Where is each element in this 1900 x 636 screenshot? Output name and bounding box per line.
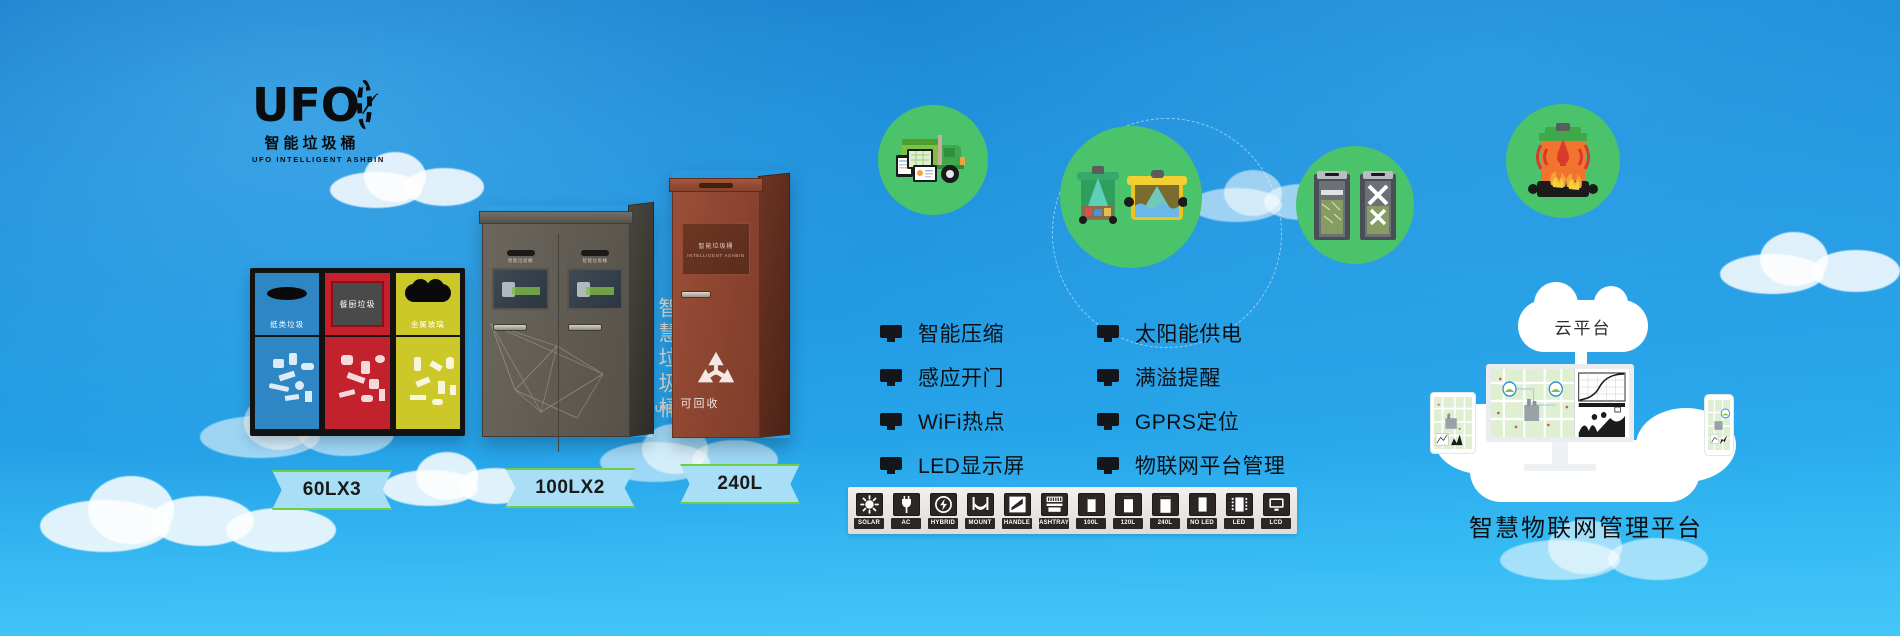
spec-label: SOLAR: [854, 518, 884, 529]
monitor-icon: [880, 457, 902, 474]
feature-label: GPRS定位: [1135, 406, 1240, 436]
feature-item: 太阳能供电: [1097, 318, 1286, 348]
spec-label: 120L: [1113, 518, 1143, 529]
monitor-icon: [1097, 325, 1119, 342]
screen-banner: [512, 287, 540, 295]
spec-label: HANDLE: [1002, 518, 1032, 529]
cloud-slot-icon: [405, 284, 451, 302]
capacity-label-100lx2: 100LX2: [505, 468, 635, 508]
screen-banner: [586, 287, 614, 295]
feature-circle-fleet-monitoring[interactable]: [878, 105, 988, 215]
plug-icon: [893, 493, 920, 516]
spec-label: AC: [891, 518, 921, 529]
no-led-icon: [1189, 493, 1216, 516]
product-smart-double-bin[interactable]: 智能垃圾桶 智能垃圾桶 智慧垃圾桶 UFO: [482, 205, 652, 437]
bin-cell-body: [396, 337, 460, 429]
tablet-device: [1430, 392, 1476, 454]
feature-list-right-column: 太阳能供电 满溢提醒 GPRS定位 物联网平台管理: [1097, 318, 1286, 480]
feature-label: WiFi热点: [918, 406, 1005, 436]
cloud-platform-badge[interactable]: 云平台: [1518, 300, 1648, 352]
bin-cell-kitchen: 餐厨垃圾: [323, 271, 391, 431]
spec-label: 100L: [1076, 518, 1106, 529]
bin-cell-top: 餐厨垃圾: [325, 273, 389, 337]
capacity-label-240l: 240L: [680, 464, 800, 504]
spec-item-hybrid[interactable]: HYBRID: [928, 493, 958, 529]
spec-item-ac[interactable]: AC: [891, 493, 921, 529]
spec-label: 240L: [1150, 518, 1180, 529]
dashboard-map-panel: [1491, 369, 1574, 437]
spec-item-240l[interactable]: 240L: [1150, 493, 1180, 529]
logo-wordmark: UFO: [252, 82, 360, 128]
bin-display-screen: [567, 268, 623, 310]
spec-item-mount[interactable]: MOUNT: [965, 493, 995, 529]
bin-display-panel: 餐厨垃圾: [331, 281, 383, 327]
bin-cell-label: 金属玻璃: [396, 319, 460, 330]
bin-fill-sensor-icon: [1075, 162, 1187, 232]
led-screen-icon: [1226, 493, 1253, 516]
bin-panel-title: 智能垃圾桶: [698, 241, 733, 250]
spec-label: ASHTRAY: [1039, 518, 1069, 529]
garbage-truck-icon: [894, 131, 972, 189]
spec-label: LED: [1224, 518, 1254, 529]
desktop-monitor-device: [1486, 364, 1634, 471]
litter-graphic: [396, 337, 460, 429]
spec-item-100l[interactable]: 100L: [1076, 493, 1106, 529]
wall-mount-icon: [967, 493, 994, 516]
monitor-base: [1524, 464, 1596, 471]
feature-circle-fire-alarm[interactable]: [1506, 104, 1620, 218]
lcd-screen-icon: [1263, 493, 1290, 516]
spec-icon-strip: SOLAR AC HYBRID: [848, 487, 1297, 534]
product-three-compartment-bin[interactable]: 纸类垃圾 餐厨垃圾: [250, 268, 465, 436]
feature-label: 太阳能供电: [1135, 318, 1243, 348]
feature-item: 感应开门: [880, 362, 1025, 392]
bin-panel-subtitle: INTELLIGENT ASHBIN: [687, 253, 744, 258]
feature-item: WiFi热点: [880, 406, 1025, 436]
bin-body: 智能垃圾桶 智能垃圾桶: [482, 219, 630, 437]
bin-cell-body: [325, 337, 389, 429]
spec-label: NO LED: [1187, 518, 1217, 529]
bin-lid: [669, 178, 763, 192]
spec-item-ashtray[interactable]: ASHTRAY: [1039, 493, 1069, 529]
platform-caption: 智慧物联网管理平台: [1416, 508, 1756, 543]
feature-label: 满溢提醒: [1135, 362, 1221, 392]
bin-cell-metal-glass: 金属玻璃: [394, 271, 462, 431]
feature-list: 智能压缩 感应开门 WiFi热点 LED显示屏 太阳能供电 满溢提醒: [880, 318, 1285, 480]
door-handle[interactable]: [568, 324, 602, 331]
bin-display-screen: [492, 268, 549, 310]
spec-label: LCD: [1261, 518, 1291, 529]
spec-item-solar[interactable]: SOLAR: [854, 493, 884, 529]
monitor-icon: [880, 413, 902, 430]
waste-slot-icon: [507, 250, 535, 256]
monitor-icon: [880, 325, 902, 342]
bin-panel-title: 智能垃圾桶: [559, 258, 631, 264]
feature-label: 感应开门: [918, 362, 1004, 392]
bin-cell-label: 餐厨垃圾: [339, 299, 375, 310]
bin-side-panel: [758, 173, 790, 438]
banner-stage: UFO 智能垃圾桶 UFO INTELLIGENT ASHBIN 纸类垃圾: [0, 0, 1900, 636]
bin-lid: [479, 211, 633, 224]
feature-item: 物联网平台管理: [1097, 450, 1286, 480]
ashtray-icon: [1041, 493, 1068, 516]
spec-item-120l[interactable]: 120L: [1113, 493, 1143, 529]
spec-item-no-led[interactable]: NO LED: [1187, 493, 1217, 529]
recycle-label: 可回收: [673, 395, 727, 411]
feature-label: 智能压缩: [918, 318, 1004, 348]
bin-cell-paper: 纸类垃圾: [253, 271, 321, 431]
cloud-platform-label: 云平台: [1555, 314, 1612, 339]
smartphone-device: [1704, 394, 1734, 456]
bin-half-left: 智能垃圾桶: [484, 234, 557, 452]
product-brown-recycle-bin[interactable]: 智能垃圾桶 INTELLIGENT ASHBIN 可回收: [672, 170, 790, 438]
bin-body: 智能垃圾桶 INTELLIGENT ASHBIN 可回收: [672, 186, 760, 438]
bin-side-panel: [628, 202, 654, 437]
spec-item-led[interactable]: LED: [1224, 493, 1254, 529]
capacity-label-60lx3: 60LX3: [272, 470, 392, 510]
sun-icon: [856, 493, 883, 516]
spec-label: MOUNT: [965, 518, 995, 529]
feature-circle-fill-level-sensing[interactable]: [1060, 126, 1202, 268]
compaction-bins-icon: [1312, 168, 1398, 242]
spec-item-lcd[interactable]: LCD: [1261, 493, 1291, 529]
door-handle[interactable]: [681, 291, 711, 298]
bin-half-right: 智能垃圾桶: [558, 234, 631, 452]
bin-cell-label: 纸类垃圾: [255, 319, 319, 330]
ufo-ring-icon: [357, 80, 372, 129]
feature-circle-waste-compaction[interactable]: [1296, 146, 1414, 264]
monitor-neck: [1552, 442, 1568, 464]
feature-item: 智能压缩: [880, 318, 1025, 348]
bin-cell-body: [255, 337, 319, 429]
feature-item: 满溢提醒: [1097, 362, 1286, 392]
monitor-icon: [1097, 457, 1119, 474]
litter-graphic: [255, 337, 319, 429]
logo-wordmark-row: UFO: [252, 80, 372, 129]
tablet-map-screen: [1434, 397, 1472, 449]
monitor-icon: [880, 369, 902, 386]
phone-map-screen: [1708, 400, 1730, 450]
bin-120l-icon: [1115, 493, 1142, 516]
bin-240l-icon: [1152, 493, 1179, 516]
litter-graphic: [325, 337, 389, 429]
logo-name-en: UFO INTELLIGENT ASHBIN: [252, 155, 372, 164]
spec-label: HYBRID: [928, 518, 958, 529]
feature-item: GPRS定位: [1097, 406, 1286, 436]
bin-panel-title: 智能垃圾桶: [484, 258, 557, 264]
waste-slot-icon: [699, 183, 733, 188]
monitor-icon: [1097, 369, 1119, 386]
brand-logo: UFO 智能垃圾桶 UFO INTELLIGENT ASHBIN: [252, 80, 372, 164]
bin-cell-top: 纸类垃圾: [255, 273, 319, 337]
iot-platform-illustration: 云平台: [1430, 300, 1740, 550]
recycle-icon: [693, 349, 739, 391]
oval-slot-icon: [267, 287, 307, 300]
handle-icon: [1004, 493, 1031, 516]
logo-name-cn: 智能垃圾桶: [252, 132, 372, 153]
feature-item: LED显示屏: [880, 450, 1025, 480]
door-handle[interactable]: [493, 324, 527, 331]
hybrid-power-icon: [930, 493, 957, 516]
feature-label: 物联网平台管理: [1135, 450, 1286, 480]
dashboard-chart-panel: [1574, 369, 1629, 437]
spec-item-handle[interactable]: HANDLE: [1002, 493, 1032, 529]
monitor-icon: [1097, 413, 1119, 430]
bin-display-panel: 智能垃圾桶 INTELLIGENT ASHBIN: [682, 223, 750, 275]
waste-slot-icon: [581, 250, 609, 256]
feature-label: LED显示屏: [918, 450, 1025, 480]
feature-list-left-column: 智能压缩 感应开门 WiFi热点 LED显示屏: [880, 318, 1025, 480]
bin-100l-icon: [1078, 493, 1105, 516]
fire-alarm-bin-icon: [1523, 123, 1603, 199]
monitor-screen: [1486, 364, 1634, 442]
bin-cell-top: 金属玻璃: [396, 273, 460, 337]
